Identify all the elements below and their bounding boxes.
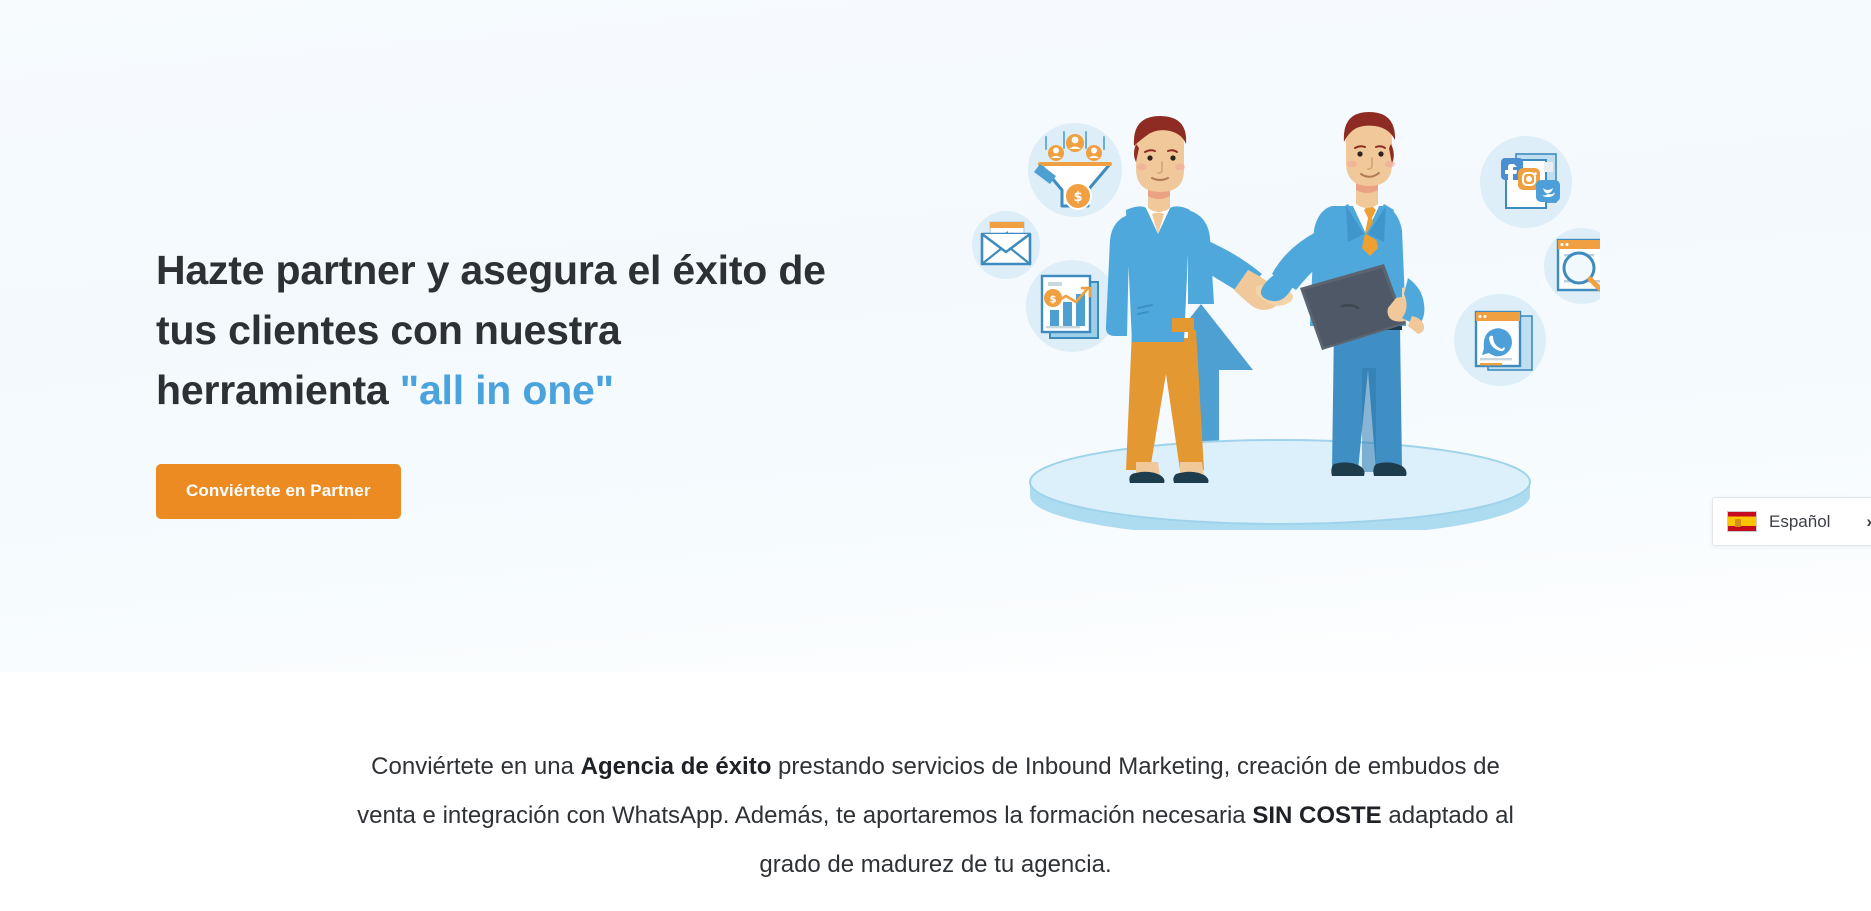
headline-accent: "all in one" <box>400 367 614 413</box>
language-selector[interactable]: Español › <box>1712 497 1871 546</box>
intro-paragraph-section: Conviértete en una Agencia de éxito pres… <box>0 742 1871 889</box>
sales-funnel-icon: $ <box>1028 123 1122 217</box>
growth-report-icon: $ <box>1026 260 1118 352</box>
become-partner-button[interactable]: Conviértete en Partner <box>156 464 401 519</box>
hero-section: Hazte partner y asegura el éxito de tus … <box>0 0 1871 672</box>
hero-inner: Hazte partner y asegura el éxito de tus … <box>0 0 1871 672</box>
blurb-bold-agency: Agencia de éxito <box>581 753 772 780</box>
blurb-seg-1: Conviértete en una <box>371 753 580 780</box>
spain-flag-icon <box>1727 511 1757 532</box>
intro-paragraph: Conviértete en una Agencia de éxito pres… <box>346 742 1526 889</box>
handshake-illustration-svg: $ <box>960 110 1600 530</box>
page-title: Hazte partner y asegura el éxito de tus … <box>156 240 946 420</box>
person-left <box>1106 116 1293 483</box>
person-right <box>1261 112 1425 476</box>
language-label: Español <box>1769 512 1830 532</box>
hero-copy: Hazte partner y asegura el éxito de tus … <box>156 240 946 519</box>
svg-text:$: $ <box>1073 190 1082 205</box>
headline-line-1: Hazte partner y asegura el éxito de <box>156 247 826 293</box>
blurb-bold-free: SIN COSTE <box>1252 802 1381 829</box>
social-media-icon <box>1480 136 1572 228</box>
chevron-right-icon: › <box>1866 512 1871 532</box>
hero-illustration: $ <box>960 110 1600 530</box>
headline-line-2: tus clientes con nuestra <box>156 307 621 353</box>
email-marketing-icon <box>972 211 1040 279</box>
headline-line-3-prefix: herramienta <box>156 367 400 413</box>
whatsapp-icon <box>1454 294 1546 386</box>
svg-text:$: $ <box>1050 295 1057 306</box>
seo-search-icon <box>1544 228 1600 304</box>
platform-disc <box>1030 440 1530 530</box>
